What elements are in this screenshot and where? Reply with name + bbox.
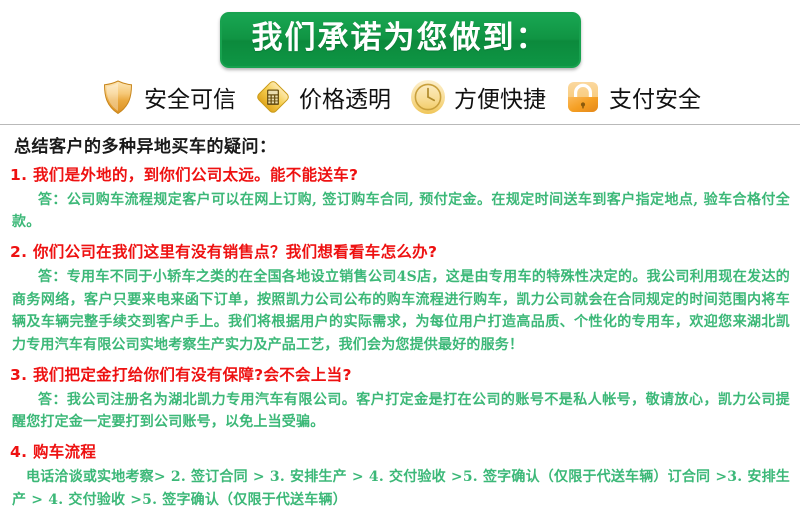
banner-title: 我们承诺为您做到： [252,19,549,58]
faq-content: 总结客户的多种异地买车的疑问： 1. 我们是外地的，到你们公司太远。能不能送车?… [0,125,800,511]
clock-icon [409,78,447,116]
feature-item-price: 价格透明 [245,78,400,116]
purchase-process-section: 4. 购车流程 电话洽谈或实地考察> 2. 签订合同 > 3. 安排生产 > 4… [6,440,794,511]
faq-question: 1. 我们是外地的，到你们公司太远。能不能送车? [10,163,794,185]
faq-answer: 答：公司购车流程规定客户可以在网上订购, 签订购车合同, 预付定金。在规定时间送… [12,189,790,234]
faq-item: 2. 你们公司在我们这里有没有销售点？我们想看看车怎么办? 答：专用车不同于小轿… [6,240,794,357]
faq-item: 3. 我们把定金打给你们有没有保障?会不会上当? 答：我公司注册名为湖北凯力专用… [6,363,794,434]
feature-label: 方便快捷 [454,80,546,114]
feature-item-security: 安全可信 [90,78,245,116]
feature-item-convenience: 方便快捷 [400,78,555,116]
faq-question: 3. 我们把定金打给你们有没有保障?会不会上当? [10,363,794,385]
feature-label: 支付安全 [609,80,701,114]
shield-icon [99,78,137,116]
calculator-icon [254,78,292,116]
purchase-process-title: 4. 购车流程 [10,440,794,462]
faq-answer: 答：我公司注册名为湖北凯力专用汽车有限公司。客户打定金是打在公司的账号不是私人帐… [12,389,790,434]
feature-label: 安全可信 [144,80,236,114]
faq-answer: 答：专用车不同于小轿车之类的在全国各地设立销售公司4S店，这是由专用车的特殊性决… [12,266,790,357]
faq-item: 1. 我们是外地的，到你们公司太远。能不能送车? 答：公司购车流程规定客户可以在… [6,163,794,234]
purchase-process-steps: 电话洽谈或实地考察> 2. 签订合同 > 3. 安排生产 > 4. 交付验收 >… [12,466,790,511]
feature-item-payment: 支付安全 [555,78,710,116]
feature-label: 价格透明 [299,80,391,114]
faq-question: 2. 你们公司在我们这里有没有销售点？我们想看看车怎么办? [10,240,794,262]
lock-icon [564,78,602,116]
promise-banner: 我们承诺为您做到： [220,12,581,68]
page-title: 总结客户的多种异地买车的疑问： [14,132,794,157]
banner-section: 我们承诺为您做到： [0,0,800,68]
feature-strip: 安全可信 [0,78,800,116]
